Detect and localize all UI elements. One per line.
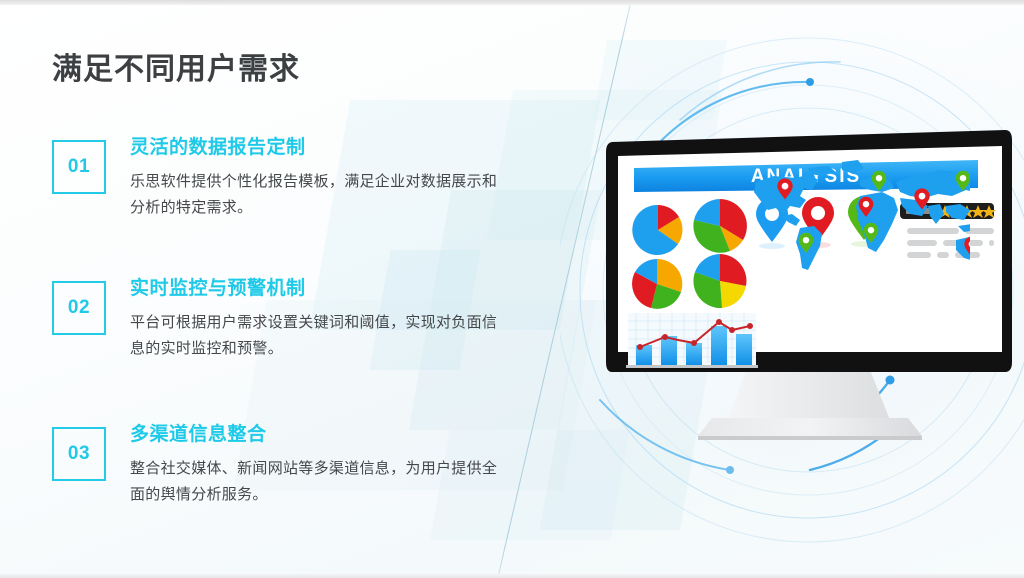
- feature-item-03: 03 多渠道信息整合 整合社交媒体、新闻网站等多渠道信息，为用户提供全面的舆情分…: [52, 424, 522, 508]
- bottom-edge-strip: [0, 574, 1024, 578]
- feature-item-02: 02 实时监控与预警机制 平台可根据用户需求设置关键词和阈值，实现对负面信息的实…: [52, 278, 522, 362]
- illustration-analytics-monitor: ANALYSIS: [560, 0, 1024, 578]
- pie-chart: [693, 199, 747, 253]
- bar-line-chart: [626, 313, 758, 368]
- page-title: 满足不同用户需求: [52, 44, 300, 88]
- feature-number-badge: 01: [52, 140, 106, 194]
- feature-description: 乐思软件提供个性化报告模板，满足企业对数据展示和分析的特定需求。: [130, 169, 510, 222]
- monitor-neck: [728, 365, 890, 420]
- pie-chart: [693, 254, 746, 308]
- pie-chart: [632, 205, 682, 255]
- feature-item-01: 01 灵活的数据报告定制 乐思软件提供个性化报告模板，满足企业对数据展示和分析的…: [52, 137, 522, 221]
- feature-description: 平台可根据用户需求设置关键词和阈值，实现对负面信息的实时监控和预警。: [130, 310, 510, 363]
- feature-number-badge: 03: [52, 427, 106, 481]
- slide-root: ANALYSIS: [0, 0, 1024, 578]
- top-edge-strip: [0, 0, 1024, 5]
- feature-title: 实时监控与预警机制: [130, 278, 522, 301]
- feature-title: 灵活的数据报告定制: [130, 137, 522, 160]
- monitor-base: [698, 418, 922, 436]
- feature-description: 整合社交媒体、新闻网站等多渠道信息，为用户提供全面的舆情分析服务。: [130, 456, 510, 509]
- feature-number-badge: 02: [52, 281, 106, 335]
- pie-chart: [632, 259, 682, 309]
- feature-title: 多渠道信息整合: [130, 424, 522, 447]
- monitor-base-edge: [698, 436, 922, 440]
